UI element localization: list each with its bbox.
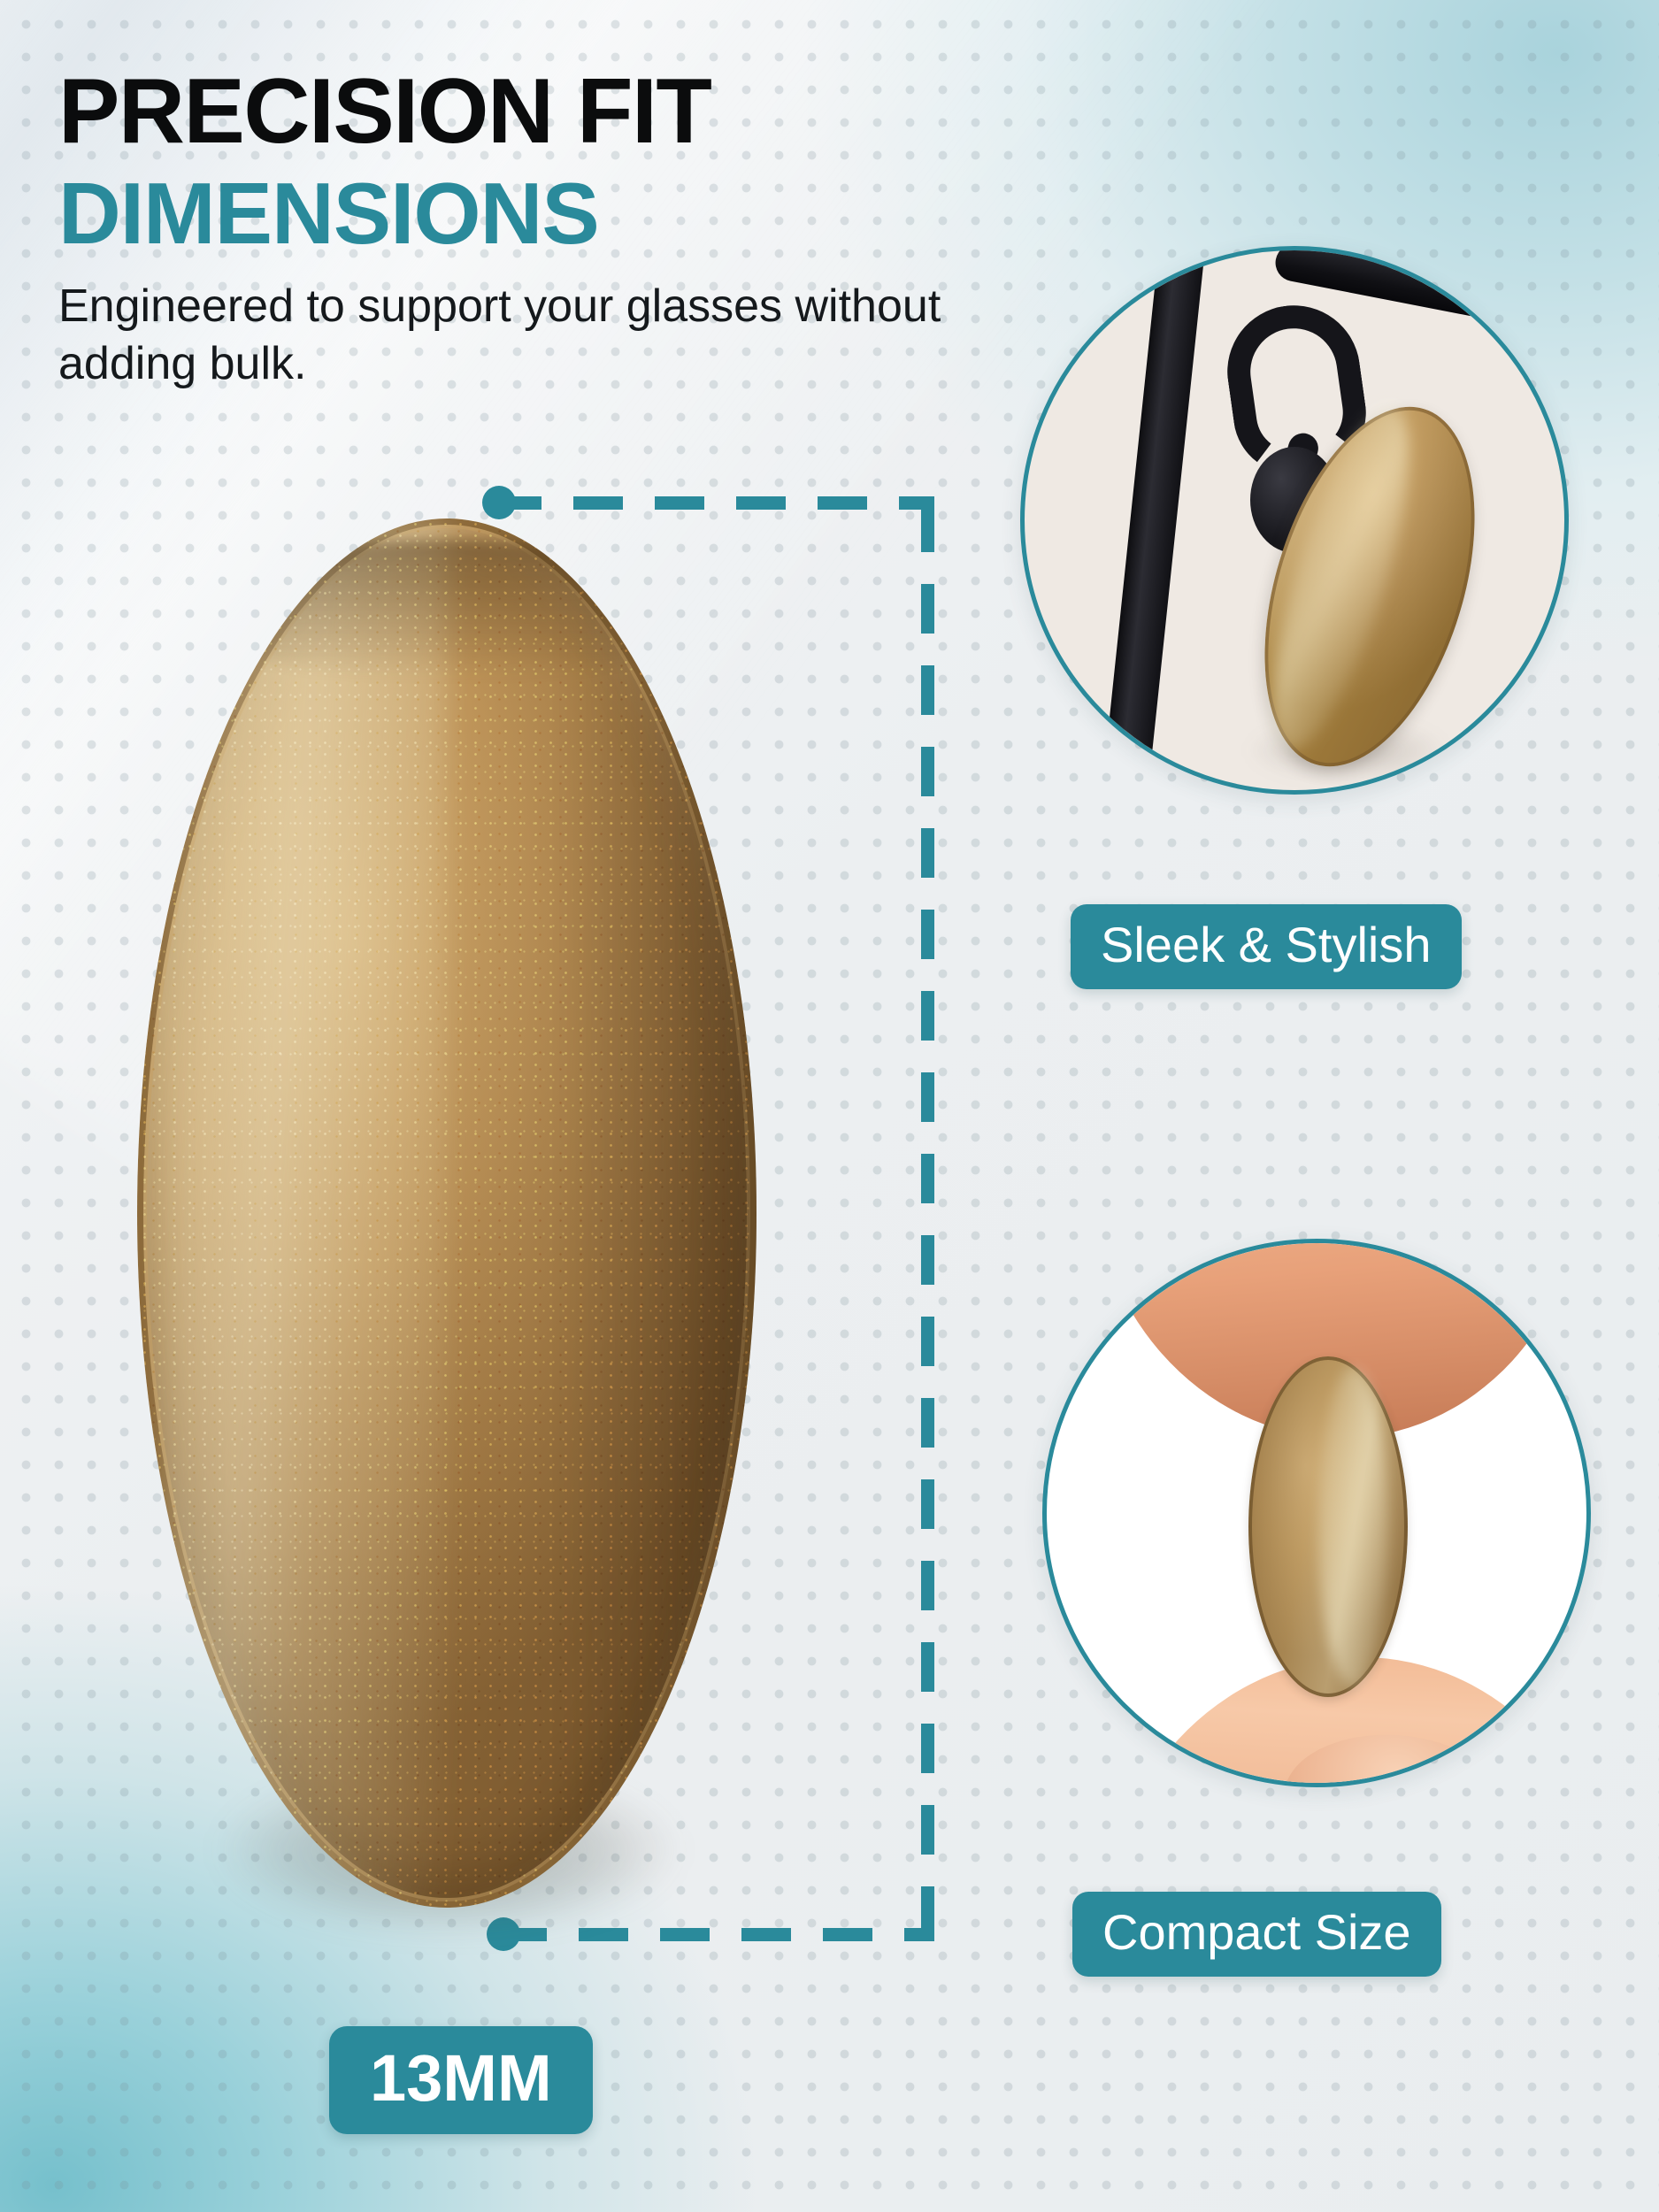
page-title-secondary: DIMENSIONS — [58, 170, 1076, 257]
feature-badge-label: Sleek & Stylish — [1101, 920, 1432, 970]
measurement-value-label: 13MM — [370, 2046, 552, 2111]
held-gold-nose-pad — [1248, 1356, 1408, 1697]
feature-badge-sleek-stylish: Sleek & Stylish — [1071, 904, 1462, 989]
feature-photo-sleek-stylish — [1020, 246, 1569, 795]
feature-photo-compact-size — [1042, 1239, 1591, 1787]
measurement-line-top — [492, 496, 934, 510]
held-pad-highlight — [1318, 1367, 1388, 1687]
page-tagline: Engineered to support your glasses witho… — [58, 278, 1023, 393]
measurement-endpoint-top-dot — [482, 486, 516, 519]
product-hero-image — [137, 518, 757, 1934]
product-oval-nose-pad — [137, 518, 757, 1908]
page-title-primary: PRECISION FIT — [58, 65, 1076, 157]
feature-badge-label: Compact Size — [1102, 1908, 1411, 1957]
feature-badge-compact-size: Compact Size — [1072, 1892, 1441, 1977]
product-metal-grain-texture — [137, 518, 757, 1908]
glasses-frame-rim — [1096, 246, 1209, 795]
header-block: PRECISION FIT DIMENSIONS Engineered to s… — [58, 65, 1076, 393]
measurement-value-badge: 13MM — [329, 2026, 593, 2134]
measurement-line-right — [921, 503, 934, 1936]
infographic-poster: PRECISION FIT DIMENSIONS Engineered to s… — [0, 0, 1659, 2212]
